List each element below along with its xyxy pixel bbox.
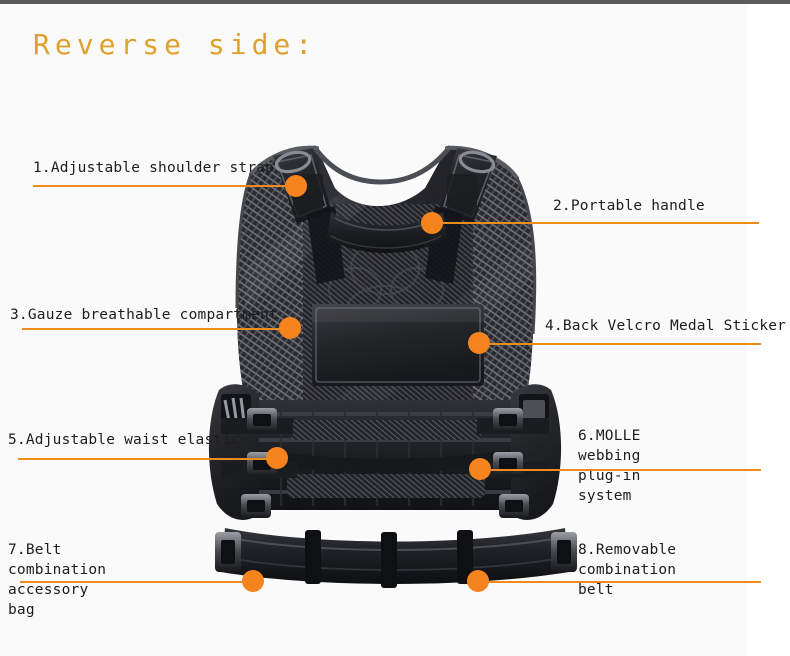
- callout-1-marker-dot[interactable]: [285, 175, 307, 197]
- top-divider-bar: [0, 0, 790, 4]
- callout-4-marker-dot[interactable]: [468, 332, 490, 354]
- callout-3-leader-line: [22, 328, 290, 330]
- callout-5-label: 5.Adjustable waist elastic: [8, 430, 240, 450]
- callout-5-leader-line: [18, 458, 274, 460]
- callout-7-marker-dot[interactable]: [242, 570, 264, 592]
- callout-5-marker-dot[interactable]: [266, 447, 288, 469]
- vest-removable-belt: [215, 528, 577, 588]
- buckle: [551, 532, 577, 572]
- callout-7-leader-line: [20, 581, 252, 583]
- callout-2-marker-dot[interactable]: [421, 212, 443, 234]
- callout-3-marker-dot[interactable]: [279, 317, 301, 339]
- buckle: [499, 494, 529, 518]
- callout-4-label: 4.Back Velcro Medal Sticker: [545, 316, 786, 336]
- buckle: [493, 408, 523, 432]
- buckle: [215, 532, 241, 572]
- callout-2-leader-line: [429, 222, 759, 224]
- callout-3-label: 3.Gauze breathable compartment: [10, 305, 278, 325]
- callout-8-marker-dot[interactable]: [467, 570, 489, 592]
- callout-6-label: 6.MOLLE webbing plug-in system: [578, 426, 641, 506]
- buckle: [247, 408, 277, 432]
- product-image-tactical-vest: [185, 118, 605, 618]
- buckle: [493, 452, 523, 476]
- callout-8-label: 8.Removable combination belt: [578, 540, 676, 600]
- callout-7-label: 7.Belt combination accessory bag: [8, 540, 106, 620]
- infographic-page: Reverse side:: [0, 0, 790, 656]
- callout-4-leader-line: [478, 343, 761, 345]
- callout-6-leader-line: [484, 469, 761, 471]
- callout-6-marker-dot[interactable]: [469, 458, 491, 480]
- callout-8-leader-line: [482, 581, 761, 583]
- vest-velcro-medal-panel: [312, 304, 484, 386]
- callout-1-leader-line: [33, 185, 291, 187]
- page-title: Reverse side:: [33, 28, 317, 61]
- buckle: [241, 494, 271, 518]
- callout-1-label: 1.Adjustable shoulder strap: [33, 158, 274, 178]
- callout-2-label: 2.Portable handle: [553, 196, 705, 216]
